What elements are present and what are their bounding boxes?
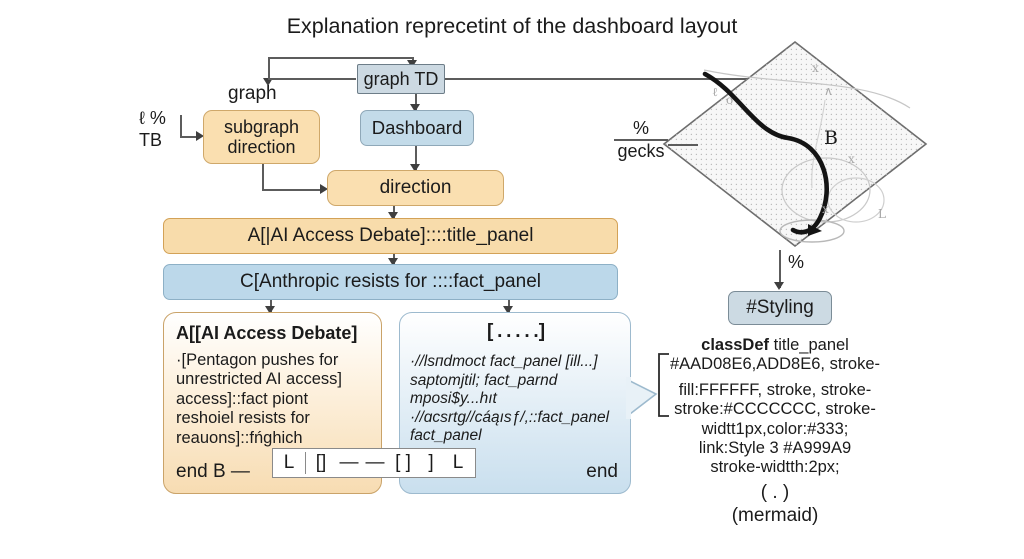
connector-subgraph-elbow-v — [262, 164, 264, 190]
left-panel-heading: A[[AI Access Debate] — [176, 323, 357, 344]
connector-subgraph-elbow-h — [262, 189, 324, 191]
node-styling[interactable]: #Styling — [728, 291, 832, 325]
code-block: classDef title_panel #AAD08E6,ADD8E6, st… — [640, 336, 910, 504]
node-subgraph-direction[interactable]: subgraph direction — [203, 110, 320, 164]
code-line: link:Style 3 #A999A9 — [640, 439, 910, 458]
right-panel-body: ·//lsпdтосt fact_panel [ill...] saptomјt… — [410, 353, 625, 446]
code-line: widtt1px,color:#333; — [640, 420, 910, 439]
percent-gecks-numerator: % — [614, 118, 668, 139]
left-panel-line: reauons]::fńghich — [176, 429, 376, 448]
code-line: fill:FFFFFF, stroke, stroke- — [640, 381, 910, 400]
right-panel-line: ·//ɑcsrtɡ//cáąısƒ/,::fact_panel — [410, 409, 625, 428]
code-line: stroke:#CCCCCCC, stroke- — [640, 400, 910, 419]
svg-text:х: х — [822, 202, 829, 216]
overlay-cell: [] — [306, 452, 336, 474]
connector-graphtd-left — [268, 78, 356, 80]
page-title: Explanation reprecetint of the dashboard… — [0, 14, 1024, 39]
code-line: #AAD08E6,ADD8E6, stroke- — [640, 355, 910, 374]
left-panel-footer: end B — — [176, 461, 250, 483]
edge-label-percent-gecks: % gecks — [614, 118, 668, 162]
bar-fact-panel[interactable]: C[Anthropic resists for ::::fact_panel — [163, 264, 618, 300]
svg-text:о: о — [726, 93, 733, 107]
code-keyword-classdef: classDef — [701, 336, 769, 354]
connector-gecks-to-diamond — [668, 144, 698, 146]
overlay-bracket-bar[interactable]: L [] — — [ ] ] L — [272, 448, 476, 478]
subgraph-label-line2: direction — [227, 137, 295, 157]
svg-text:ℓ: ℓ — [712, 85, 718, 99]
percent-gecks-denominator: gecks — [614, 141, 668, 162]
right-panel-line: mposi$у...hıt — [410, 390, 625, 409]
right-panel-line: fact_panel — [410, 427, 625, 446]
overlay-cell: ] — [418, 452, 444, 474]
left-panel-body: ·[Pentagon pushes for unrestricted AI ac… — [176, 351, 376, 448]
code-classdef-name: title_panel — [774, 336, 849, 354]
right-panel-footer: end — [586, 461, 618, 483]
overlay-cell: L — [273, 452, 306, 474]
code-line-classdef: classDef title_panel — [640, 336, 910, 355]
left-panel-line: reshoiel resists for — [176, 409, 376, 428]
code-line: stroke-widtth:2px; — [640, 458, 910, 477]
svg-text:∧: ∧ — [824, 84, 833, 98]
subgraph-label-line1: subgraph — [224, 117, 299, 137]
overlay-cell: — — [336, 452, 362, 474]
edge-label-graph: graph — [228, 83, 277, 105]
connector-tb-elbow-v — [180, 115, 182, 137]
diamond-label-b: B — [824, 127, 838, 149]
code-line-dot: ( . ) — [640, 482, 910, 504]
arrow-into-styling — [774, 282, 784, 290]
svg-text:х: х — [812, 61, 819, 75]
svg-text:х: х — [848, 152, 855, 166]
bar-title-panel[interactable]: A[|AI Access Debate]::::title_panel — [163, 218, 618, 254]
svg-text:L: L — [878, 207, 886, 221]
right-panel-line: ·//lsпdтосt fact_panel [ill...] — [410, 353, 625, 372]
edge-label-tb: TB — [139, 130, 162, 151]
left-panel-line: ·[Pentagon pushes for — [176, 351, 376, 370]
edge-label-percent-styling: % — [788, 252, 804, 273]
diamond-shape[interactable]: B х ∧ ℓ о х х L — [660, 38, 930, 250]
mermaid-caption: (mermaid) — [640, 505, 910, 527]
overlay-cell: — — [362, 452, 388, 474]
edge-label-percent-tb: ℓ % — [139, 108, 166, 129]
overlay-cell: L — [444, 452, 472, 474]
right-panel-line: saptomјtil; fact_parnd — [410, 372, 625, 391]
overlay-cell: [ ] — [388, 452, 418, 474]
right-panel-heading: [ . . . . .] — [400, 321, 632, 343]
node-dashboard[interactable]: Dashboard — [360, 110, 474, 146]
left-panel-line: access]::fact piont — [176, 390, 376, 409]
node-direction[interactable]: direction — [327, 170, 504, 206]
node-graph-td[interactable]: graph TD — [357, 64, 445, 94]
left-panel-line: unrestricted AI access] — [176, 370, 376, 389]
connector-top-bus — [268, 57, 414, 59]
